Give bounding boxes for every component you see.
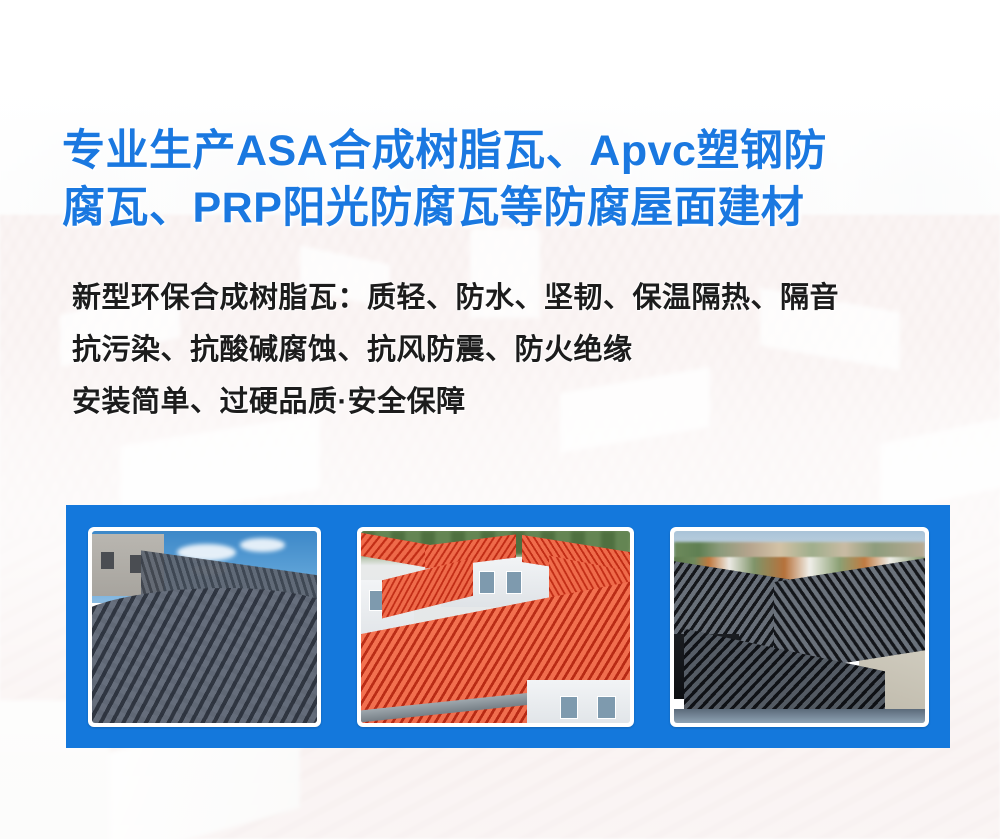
banner-headline: 专业生产ASA合成树脂瓦、Apvc塑钢防 腐瓦、PRP阳光防腐瓦等防腐屋面建材 — [62, 123, 952, 237]
subhead-line-1: 新型环保合成树脂瓦：质轻、防水、坚韧、保温隔热、隔音 — [72, 272, 972, 324]
banner-subheadline: 新型环保合成树脂瓦：质轻、防水、坚韧、保温隔热、隔音 抗污染、抗酸碱腐蚀、抗风防… — [72, 272, 972, 428]
red-tile-roof-image — [361, 531, 630, 723]
banner-content: 专业生产ASA合成树脂瓦、Apvc塑钢防 腐瓦、PRP阳光防腐瓦等防腐屋面建材 … — [0, 0, 1000, 839]
photo-gallery-panel — [66, 505, 950, 748]
photo1-cloud-2 — [240, 538, 285, 551]
subhead-line-2: 抗污染、抗酸碱腐蚀、抗风防震、防火绝缘 — [72, 324, 972, 376]
photo2-window-5 — [560, 696, 579, 719]
product-banner: 专业生产ASA合成树脂瓦、Apvc塑钢防 腐瓦、PRP阳光防腐瓦等防腐屋面建材 … — [0, 0, 1000, 839]
headline-line-2: 腐瓦、PRP阳光防腐瓦等防腐屋面建材 — [62, 180, 952, 237]
black-tile-roof-photo[interactable] — [670, 527, 929, 727]
photo2-window-6 — [597, 696, 616, 719]
charcoal-tile-roof-image — [92, 531, 317, 723]
photo2-window-3 — [506, 571, 522, 594]
subhead-line-3: 安装简单、过硬品质·安全保障 — [72, 376, 972, 428]
charcoal-tile-roof-photo[interactable] — [88, 527, 321, 727]
photo2-window-2 — [479, 571, 495, 594]
photo3-foreground-strip — [674, 709, 925, 722]
headline-line-1: 专业生产ASA合成树脂瓦、Apvc塑钢防 — [62, 123, 952, 180]
photo1-window-1 — [101, 552, 115, 569]
red-tile-roof-photo[interactable] — [357, 527, 634, 727]
black-tile-roof-image — [674, 531, 925, 723]
photo1-main-tile-roof — [92, 588, 317, 722]
